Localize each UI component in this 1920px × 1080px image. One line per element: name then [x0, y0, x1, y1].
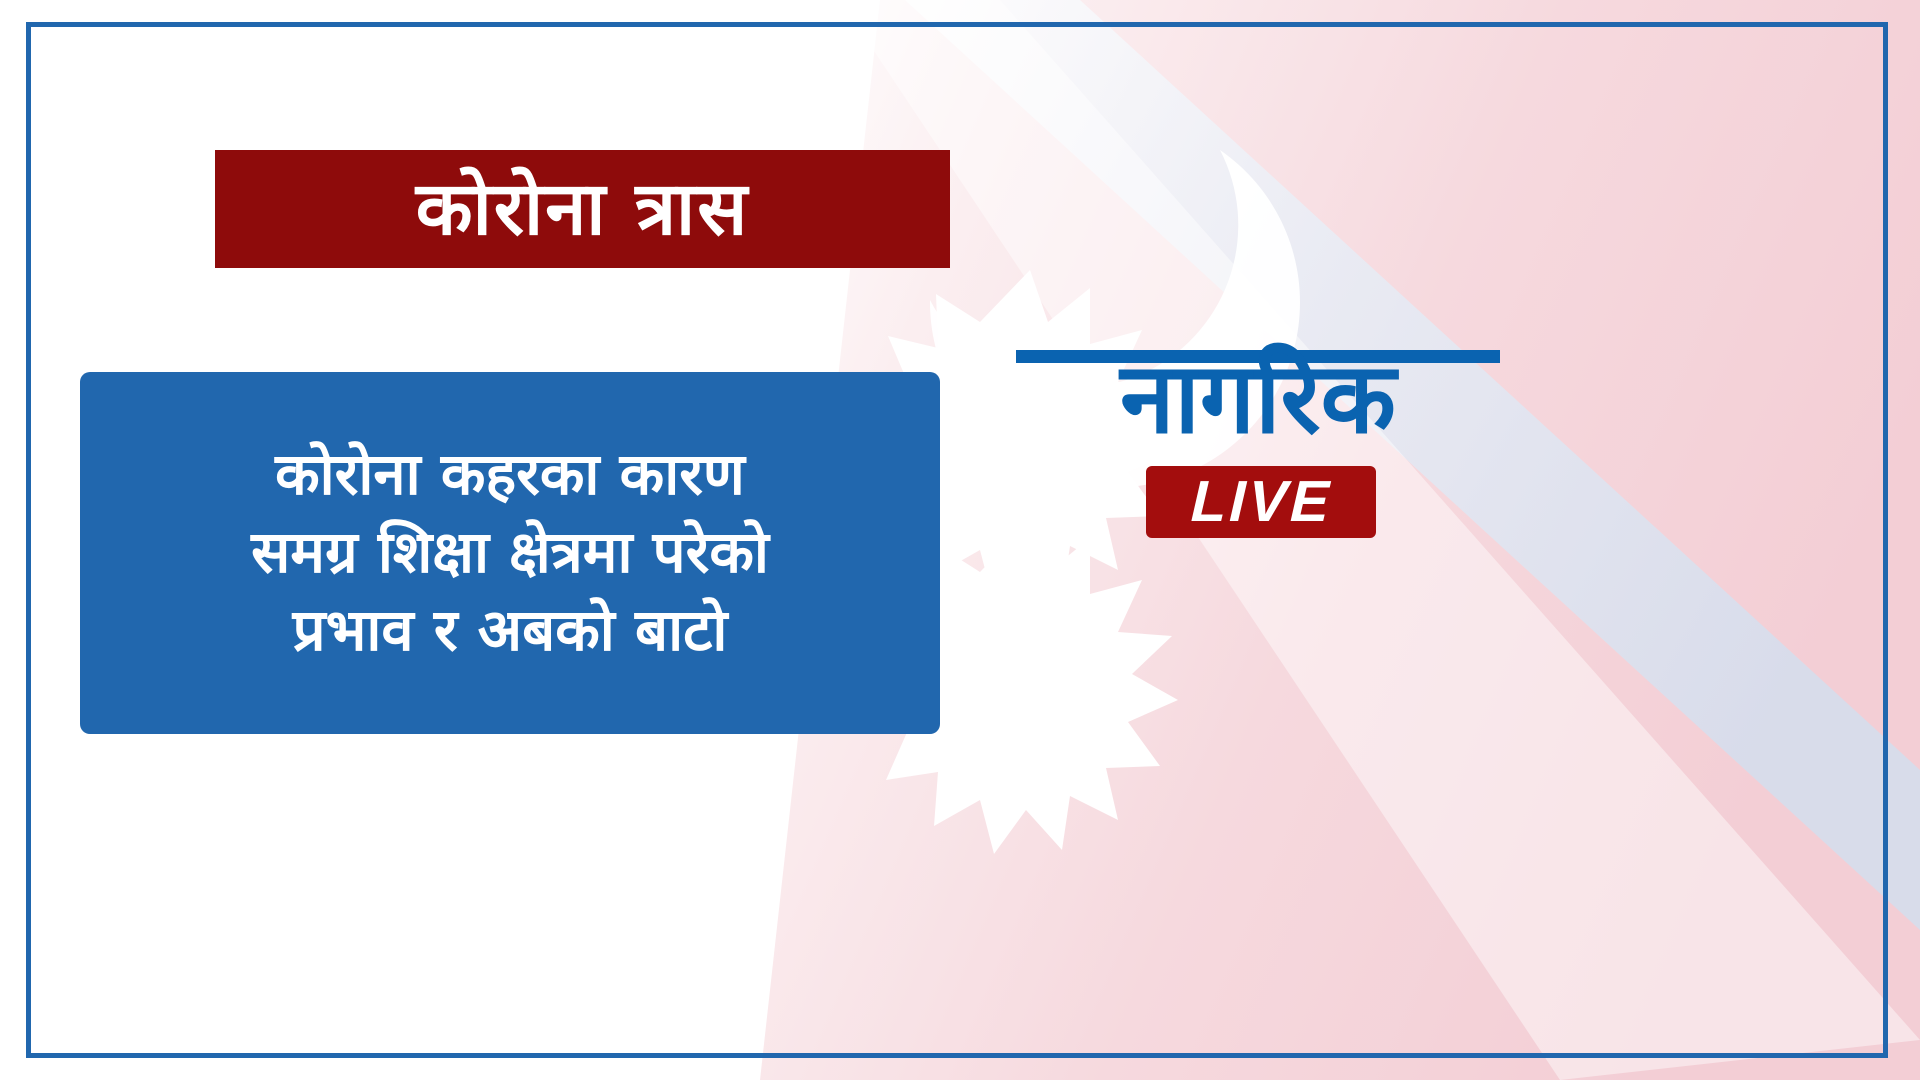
broadcast-graphic-canvas: कोरोना त्रास कोरोना कहरका कारण समग्र शिक… — [0, 0, 1920, 1080]
headline-box: कोरोना कहरका कारण समग्र शिक्षा क्षेत्रमा… — [80, 372, 940, 734]
headline-line-2: समग्र शिक्षा क्षेत्रमा परेको — [251, 514, 769, 592]
nagarik-live-logo: नागरिक LIVE — [1008, 340, 1508, 555]
kicker-banner: कोरोना त्रास — [215, 150, 950, 268]
headline-line-3: प्रभाव र अबको बाटो — [293, 592, 728, 670]
logo-wordmark: नागरिक — [1008, 346, 1508, 454]
kicker-text: कोरोना त्रास — [416, 172, 749, 246]
live-badge: LIVE — [1146, 466, 1376, 538]
live-badge-label: LIVE — [1190, 473, 1333, 531]
headline-line-1: कोरोना कहरका कारण — [275, 436, 745, 514]
